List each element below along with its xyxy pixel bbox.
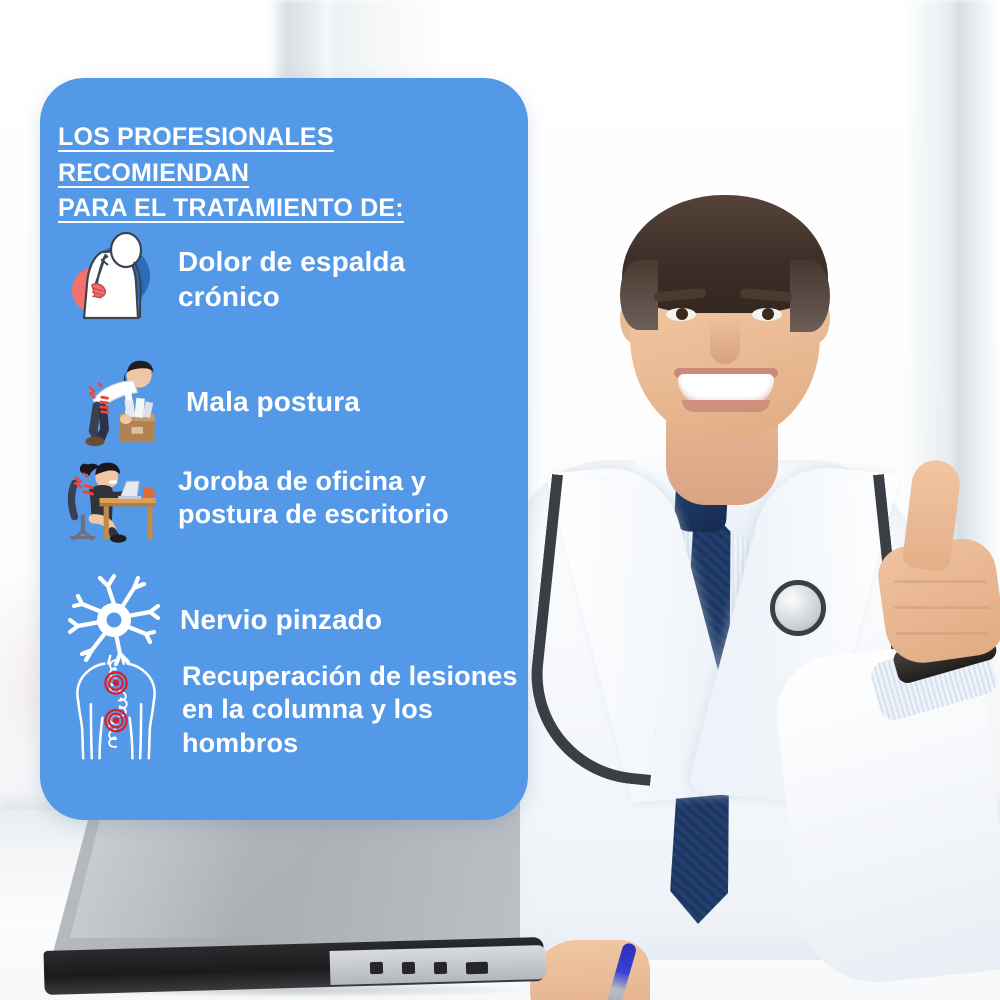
stethoscope-chestpiece bbox=[770, 580, 826, 636]
list-item-label: Mala postura bbox=[186, 385, 360, 420]
spine-torso-pain-points-icon bbox=[64, 658, 168, 762]
list-item[interactable]: Mala postura bbox=[68, 350, 518, 454]
card-title: LOS PROFESIONALES RECOMIENDAN PARA EL TR… bbox=[58, 120, 510, 227]
laptop-port-3 bbox=[434, 962, 447, 974]
list-item[interactable]: Recuperación de lesiones en la columna y… bbox=[64, 658, 534, 762]
poster-canvas: LOS PROFESIONALES RECOMIENDAN PARA EL TR… bbox=[0, 0, 1000, 1000]
list-item[interactable]: Joroba de oficina y postura de escritori… bbox=[60, 446, 530, 550]
knuckle-line-1 bbox=[894, 580, 986, 583]
laptop-port-4 bbox=[466, 962, 488, 975]
list-item-label: Joroba de oficina y postura de escritori… bbox=[178, 465, 449, 532]
knuckle-line-3 bbox=[896, 632, 988, 635]
list-item-label: Dolor de espalda crónico bbox=[178, 245, 405, 314]
nose bbox=[710, 318, 740, 364]
laptop-port-2 bbox=[402, 962, 415, 974]
pupil-left bbox=[676, 308, 688, 320]
lower-lip bbox=[682, 400, 770, 412]
laptop-port-1 bbox=[370, 962, 383, 974]
list-item-label: Recuperación de lesiones en la columna y… bbox=[182, 660, 518, 760]
list-item[interactable]: Dolor de espalda crónico bbox=[60, 228, 520, 332]
desk-hunch-woman-laptop-icon bbox=[60, 446, 164, 550]
back-pain-person-icon bbox=[60, 228, 164, 332]
hair-temple-left bbox=[620, 260, 658, 330]
pupil-right bbox=[762, 308, 774, 320]
hair-temple-right bbox=[790, 260, 830, 332]
list-item-label: Nervio pinzado bbox=[180, 603, 382, 638]
knuckle-line-2 bbox=[894, 606, 990, 609]
recommendation-card: LOS PROFESIONALES RECOMIENDAN PARA EL TR… bbox=[40, 78, 528, 820]
bending-lifting-box-icon bbox=[68, 350, 172, 454]
